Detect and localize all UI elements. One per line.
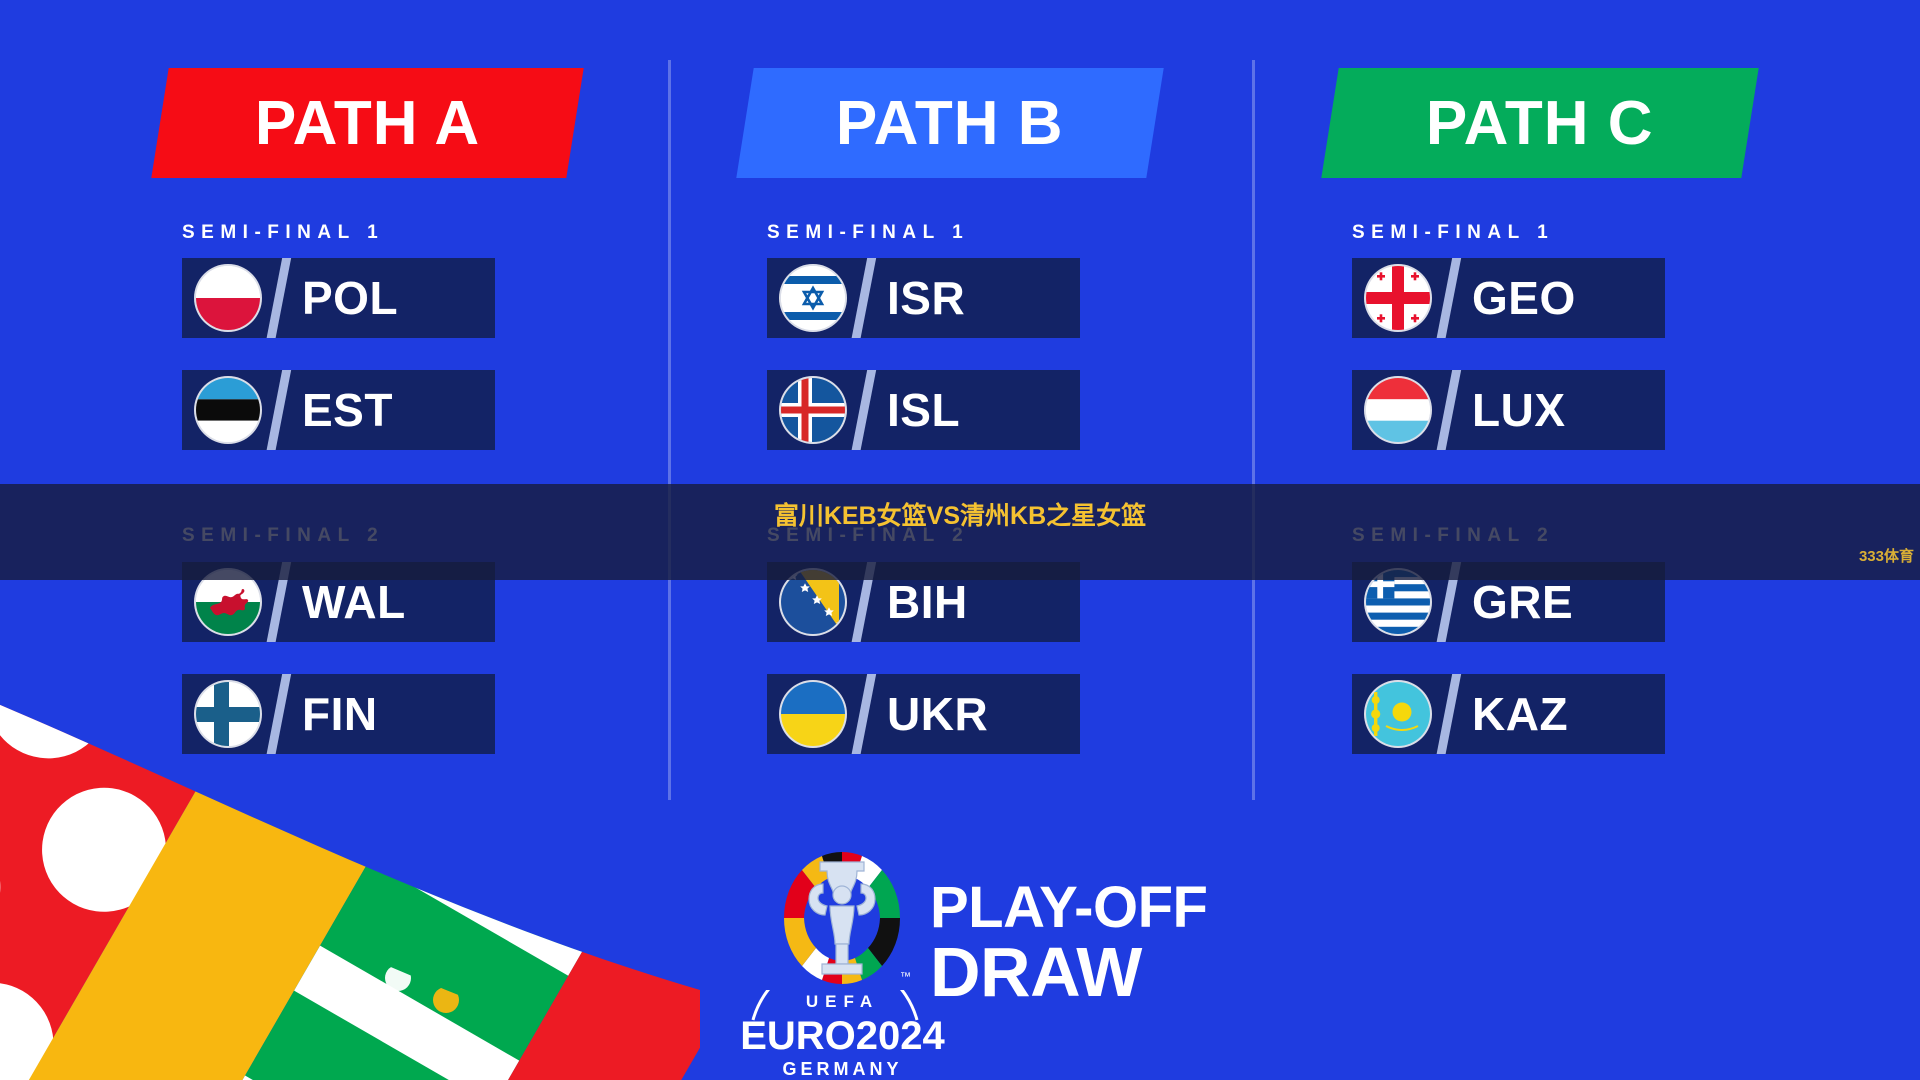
slash-separator [850, 370, 878, 450]
team-code: LUX [1472, 370, 1657, 450]
team-code: POL [302, 258, 487, 338]
slash-separator [265, 370, 293, 450]
kazakhstan-flag-icon [1366, 682, 1430, 746]
paths-container: PATH A SEMI-FINAL 1 SEMI-FINAL 2 POL EST [0, 0, 1920, 830]
table-row[interactable]: ISL [767, 370, 1080, 450]
georgia-flag-icon [1366, 266, 1430, 330]
team-code: GRE [1472, 562, 1657, 642]
slash-separator [1435, 562, 1463, 642]
slash-separator [265, 258, 293, 338]
team-code: ISR [887, 258, 1072, 338]
slash-separator [1435, 674, 1463, 754]
path-b-semifinal-1-label: SEMI-FINAL 1 [767, 222, 969, 244]
team-code: UKR [887, 674, 1072, 754]
slash-separator [265, 562, 293, 642]
table-row[interactable]: UKR [767, 674, 1080, 754]
table-row[interactable]: GEO [1352, 258, 1665, 338]
path-c-title: PATH C [1426, 88, 1654, 159]
iceland-flag-icon [781, 378, 845, 442]
greece-flag-icon [1366, 570, 1430, 634]
euro2024-wordmark: UEFA EURO2024 GERMANY [735, 990, 950, 1080]
path-b-title: PATH B [836, 88, 1064, 159]
path-a-banner: PATH A [151, 68, 583, 178]
team-code: BIH [887, 562, 1072, 642]
israel-flag-icon [781, 266, 845, 330]
table-row[interactable]: POL [182, 258, 495, 338]
slash-separator [850, 674, 878, 754]
slash-separator [1435, 258, 1463, 338]
path-column-b: PATH B SEMI-FINAL 1 SEMI-FINAL 2 [745, 0, 1305, 830]
poland-flag-icon [196, 266, 260, 330]
bosnia-flag-icon [781, 570, 845, 634]
graphic-canvas: PATH A SEMI-FINAL 1 SEMI-FINAL 2 POL EST [0, 0, 1920, 1080]
table-row[interactable]: FIN [182, 674, 495, 754]
playoff-draw-title: PLAY-OFF DRAW [930, 878, 1490, 1009]
table-row[interactable]: BIH [767, 562, 1080, 642]
table-row[interactable]: KAZ [1352, 674, 1665, 754]
title-line-2: DRAW [930, 937, 1490, 1008]
finland-flag-icon [196, 682, 260, 746]
team-code: EST [302, 370, 487, 450]
team-code: GEO [1472, 258, 1657, 338]
table-row[interactable]: LUX [1352, 370, 1665, 450]
watermark-text: 333体育 [1859, 545, 1914, 566]
path-c-banner: PATH C [1321, 68, 1758, 178]
slash-separator [850, 258, 878, 338]
table-row[interactable]: GRE [1352, 562, 1665, 642]
slash-separator [850, 562, 878, 642]
wales-flag-icon [196, 570, 260, 634]
overlay-band-text: 富川KEB女篮VS清州KB之星女篮 [0, 496, 1920, 536]
slash-separator [265, 674, 293, 754]
table-row[interactable]: WAL [182, 562, 495, 642]
table-row[interactable]: ISR [767, 258, 1080, 338]
slash-separator [1435, 370, 1463, 450]
path-b-banner: PATH B [736, 68, 1163, 178]
path-a-semifinal-1-label: SEMI-FINAL 1 [182, 222, 384, 244]
path-c-semifinal-1-label: SEMI-FINAL 1 [1352, 222, 1554, 244]
estonia-flag-icon [196, 378, 260, 442]
team-code: KAZ [1472, 674, 1657, 754]
team-code: FIN [302, 674, 487, 754]
path-column-c: PATH C SEMI-FINAL 1 SEMI-FINAL 2 [1330, 0, 1890, 830]
uefa-label: UEFA [735, 992, 950, 1012]
team-code: WAL [302, 562, 487, 642]
team-code: ISL [887, 370, 1072, 450]
svg-text:™: ™ [900, 971, 911, 983]
title-line-1: PLAY-OFF [930, 878, 1490, 937]
germany-label: GERMANY [735, 1059, 950, 1080]
table-row[interactable]: EST [182, 370, 495, 450]
path-a-title: PATH A [255, 88, 480, 159]
path-column-a: PATH A SEMI-FINAL 1 SEMI-FINAL 2 POL EST [160, 0, 720, 830]
ukraine-flag-icon [781, 682, 845, 746]
luxembourg-flag-icon [1366, 378, 1430, 442]
footer: ™ UEFA EURO2024 GERMANY PLAY-OFF DRAW [0, 830, 1920, 1080]
